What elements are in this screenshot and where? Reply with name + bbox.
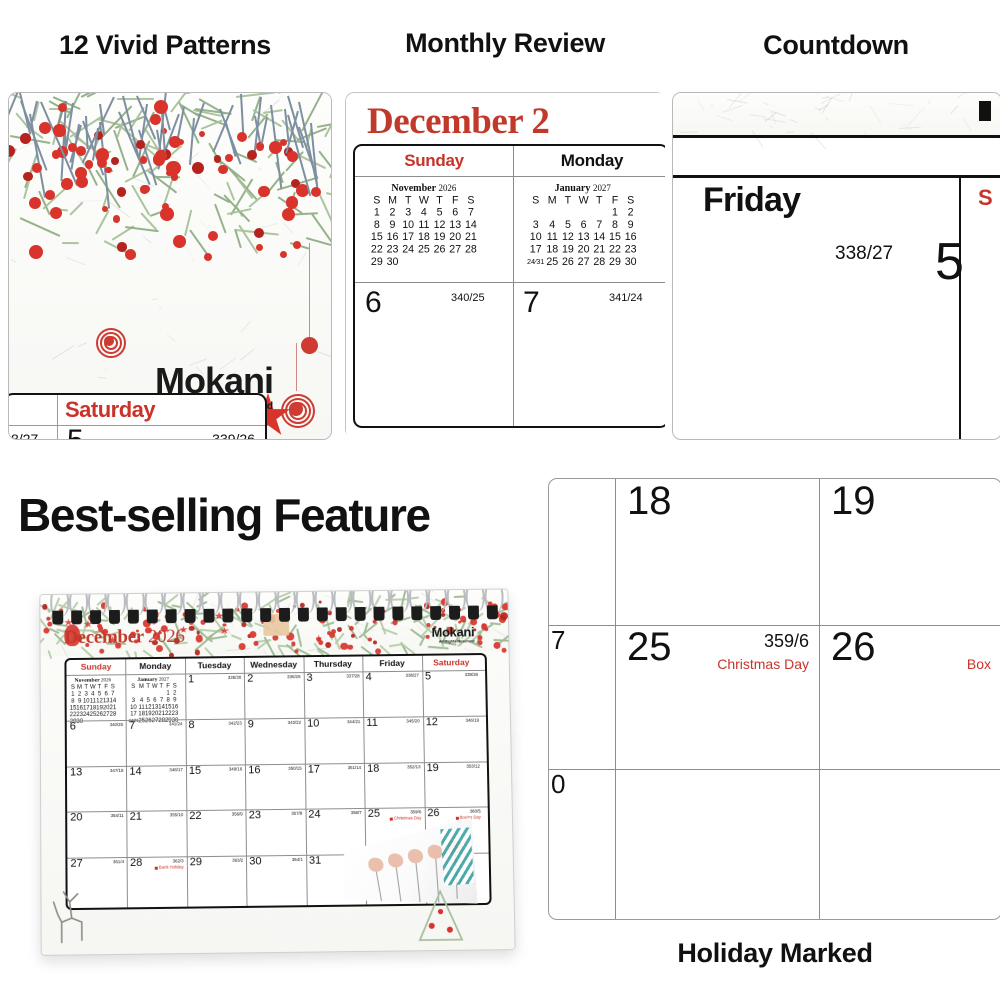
countdown-rule-top <box>673 135 1000 138</box>
mini-dow: M <box>76 684 83 691</box>
calendar-day-cell: 22356/9 <box>186 810 246 857</box>
mini-day: 9 <box>385 219 401 231</box>
paper-fiber <box>66 257 86 265</box>
mini-day: 25 <box>544 256 560 268</box>
mini-day: 20 <box>447 231 463 243</box>
calendar-day-code: 360/5 <box>470 809 481 814</box>
calendar-day-cell: 18352/13 <box>364 762 424 809</box>
calendar-day-cell: 21355/10 <box>127 811 187 858</box>
spiral-punch <box>147 609 158 623</box>
mini-dow: M <box>544 194 560 206</box>
calendar-day-code: 343/22 <box>288 720 301 725</box>
mini-day: 11 <box>416 219 432 231</box>
calendar-day-number: 30 <box>249 856 261 869</box>
tree-svg <box>409 885 472 942</box>
right-day-number: 26 <box>831 627 876 667</box>
mini-day: 24⁄31 <box>527 256 544 268</box>
calendar-day-code: 337/28 <box>346 673 359 678</box>
panel-monthly-review: December 2 Sunday Monday November 2026SM… <box>345 92 665 438</box>
mini-day: 24⁄31 <box>129 717 139 724</box>
berry <box>58 103 67 112</box>
mini-day: 8 <box>607 219 623 231</box>
calendar-day-number: 16 <box>248 764 260 777</box>
spiral-punch <box>279 608 290 622</box>
mini-month-january: January 2027SMTWTFS123456789101112131415… <box>527 182 638 268</box>
calendar-day-code: 352/13 <box>407 764 421 769</box>
right-day-cell: 7 <box>549 625 615 769</box>
mini-day <box>591 207 607 219</box>
calendar-month-name: December <box>64 626 143 648</box>
paper-fiber <box>908 107 926 126</box>
right-day-cell: 26Box <box>819 625 1000 769</box>
berry <box>269 141 282 154</box>
calendar-brand-name: Mokani <box>431 625 474 638</box>
paper-fiber <box>186 248 194 261</box>
paper-fiber <box>722 104 743 112</box>
mini-day: 28 <box>591 256 607 268</box>
calendar-day-number: 4 <box>366 671 372 684</box>
monthly-row-divider-1 <box>355 176 665 177</box>
paper-fiber <box>786 131 794 133</box>
mini-month-year: 2027 <box>159 676 169 682</box>
mini-day: 16 <box>623 231 639 243</box>
mini-day: 20 <box>576 244 592 256</box>
calendar-day-code: 347/18 <box>110 767 123 772</box>
mini-day <box>447 256 463 268</box>
calendar-day-cell: 4338/27 <box>363 671 423 717</box>
mini-day: 12 <box>432 219 448 231</box>
spiral-punch <box>468 606 479 620</box>
peel-pattern-dot <box>368 857 384 872</box>
berry <box>160 207 174 221</box>
calendar-day-number: 23 <box>249 810 261 823</box>
mini-day: 19 <box>432 231 448 243</box>
calendar-day-number: 27 <box>70 858 82 871</box>
calendar-day-number: 3 <box>306 672 312 685</box>
mini-day <box>560 207 576 219</box>
monthly-row-divider-2 <box>355 282 665 283</box>
paper-fiber <box>110 202 131 218</box>
mini-dow: T <box>400 194 416 206</box>
mini-day: 4 <box>416 207 432 219</box>
spiral-punch <box>128 610 139 624</box>
right-day-code: 359/6 <box>764 631 809 652</box>
calendar-day-cell: 7341/24 <box>126 719 186 765</box>
mini-month-wrap: November 2026SMTWTFS12345678910111213141… <box>70 676 124 677</box>
berry <box>68 143 77 152</box>
right-day-number: 7 <box>551 627 565 653</box>
mini-day: 13 <box>447 219 463 231</box>
mini-day: 5 <box>432 207 448 219</box>
mini-day: 8 <box>369 219 385 231</box>
calendar-day-number: 11 <box>366 717 378 730</box>
bauble-core <box>289 402 303 416</box>
berry <box>218 165 228 175</box>
calendar-day-number: 24 <box>308 809 320 822</box>
mini-day: 26 <box>560 256 576 268</box>
mini-month-table: SMTWTFS123456789101112131415161718192021… <box>369 194 479 268</box>
countdown-day-code: 338/27 <box>835 243 893 265</box>
spiral-punch <box>449 606 460 620</box>
spiral-punch <box>90 610 101 624</box>
mini-day: 29 <box>70 718 77 725</box>
calendar-day-code: 342/23 <box>228 720 241 725</box>
calendar-brand-rights: All Rights Reserved <box>432 638 475 643</box>
spiral-punch <box>430 606 441 620</box>
mini-day: 15 <box>607 231 623 243</box>
mini-month-header: January 2027 <box>129 676 179 683</box>
paper-fiber <box>817 92 825 96</box>
mini-day: 30 <box>76 718 83 725</box>
mini-month-table: SMTWTFS123456789101112131415161718192021… <box>129 682 179 724</box>
berry <box>239 643 246 650</box>
calendar-day-code: 356/9 <box>232 812 243 817</box>
monthly-col-header-sunday: Sunday <box>355 146 513 177</box>
calendar-day-cell: 30364/1 <box>246 855 306 902</box>
mini-dow: W <box>416 194 432 206</box>
calendar-weekday-saturday: Saturday <box>422 655 481 671</box>
calendar-day-code: 339/26 <box>465 672 478 677</box>
berry <box>237 132 247 142</box>
mini-month-header: January 2027 <box>527 182 638 193</box>
calendar-day-code: 338/27 <box>405 673 418 678</box>
calendar-day-code: 359/6 <box>410 810 421 815</box>
strip-day-number: 5 <box>67 426 84 440</box>
mini-day: 30 <box>172 717 179 724</box>
right-day-number: 18 <box>627 481 672 521</box>
mini-day: 3 <box>527 219 544 231</box>
right-holiday-label: Box <box>967 656 991 672</box>
mini-month-wrap: January 2027SMTWTFS123456789101112131415… <box>129 676 183 677</box>
berry <box>375 648 381 654</box>
berry <box>250 631 257 638</box>
heading-vivid-patterns: 12 Vivid Patterns <box>0 30 330 61</box>
berry <box>29 197 41 209</box>
countdown-day-number: 5 <box>935 236 964 288</box>
countdown-weekday-saturday: S <box>978 185 993 211</box>
spiral-punch <box>241 608 252 622</box>
ornament-thread <box>296 343 297 391</box>
panel-holiday-marked: 1819725359/6Christmas Day26Box0 <box>548 478 1000 920</box>
paper-fiber <box>329 433 332 440</box>
mini-day: 6 <box>576 219 592 231</box>
calendar-weekday-wednesday: Wednesday <box>244 657 303 673</box>
berry <box>208 231 218 241</box>
calendar-day-code: 335/30 <box>228 675 241 680</box>
pine-needle <box>62 242 79 244</box>
spiral-punch <box>392 606 403 620</box>
heading-countdown: Countdown <box>672 30 1000 61</box>
strip-divider <box>57 395 58 440</box>
calendar-day-cell: 6340/25 <box>67 720 127 766</box>
mini-day: 7 <box>591 219 607 231</box>
heading-holiday-marked: Holiday Marked <box>560 938 990 969</box>
mini-day: 24 <box>400 244 416 256</box>
mini-day: 5 <box>560 219 576 231</box>
calendar-day-code: 354/11 <box>111 813 124 818</box>
berry <box>478 635 483 640</box>
berry <box>351 633 355 637</box>
berry <box>280 251 287 258</box>
mini-month-year: 2026 <box>101 677 111 683</box>
mini-day: 10 <box>527 231 544 243</box>
right-day-number: 25 <box>627 627 672 667</box>
mini-day <box>416 256 432 268</box>
mini-month-header: November 2026 <box>70 676 117 683</box>
calendar-day-code: 364/1 <box>292 857 303 862</box>
berry <box>256 244 263 251</box>
calendar-day-code: 344/21 <box>347 719 360 724</box>
countdown-paper-band <box>673 93 1000 135</box>
mini-day <box>400 256 416 268</box>
monthly-grid: Sunday Monday November 2026SMTWTFS123456… <box>353 144 665 428</box>
mini-day: 3 <box>400 207 416 219</box>
paper-fiber <box>727 99 748 104</box>
calendar-cover: December 2026 Mokani All Rights Reserved… <box>39 588 515 955</box>
berry <box>155 150 167 162</box>
mini-day: 23 <box>623 244 639 256</box>
right-holiday-label: Christmas Day <box>717 656 809 672</box>
mini-day: 15 <box>369 231 385 243</box>
calendar-day-cell: 17351/14 <box>305 763 365 810</box>
calendar-day-code: 363/2 <box>232 858 243 863</box>
mini-day <box>576 207 592 219</box>
mini-day <box>527 207 544 219</box>
calendar-day-number: 5 <box>425 671 431 684</box>
paper-fiber <box>98 377 106 379</box>
calendar-date-strip: Saturday 8/27 5 339/26 <box>8 393 267 440</box>
paper-fiber <box>680 132 698 134</box>
berry <box>294 649 298 653</box>
monthly-day-number: 6 <box>365 288 382 318</box>
mini-day: 4 <box>544 219 560 231</box>
berry <box>254 641 259 646</box>
calendar-day-cell: 11345/20 <box>363 716 423 762</box>
berry <box>195 635 202 642</box>
mini-day: 1 <box>369 207 385 219</box>
right-day-number: 19 <box>831 481 876 521</box>
mini-day: 12 <box>560 231 576 243</box>
calendar-weekday-thursday: Thursday <box>303 656 362 672</box>
calendar-day-code: 345/20 <box>406 718 419 723</box>
mini-day: 11 <box>544 231 560 243</box>
mini-day <box>544 207 560 219</box>
calendar-brand: Mokani All Rights Reserved <box>431 625 474 643</box>
mini-day: 10 <box>400 219 416 231</box>
paper-fiber <box>194 172 209 188</box>
paper-fiber <box>239 348 254 360</box>
mini-month-year: 2026 <box>438 183 456 193</box>
berry <box>85 160 94 169</box>
right-day-cell: 25359/6Christmas Day <box>615 625 819 769</box>
mini-dow: F <box>607 194 623 206</box>
countdown-rule-bottom <box>673 175 1000 178</box>
paper-fiber <box>849 92 854 102</box>
calendar-day-cell: 10344/21 <box>304 717 364 763</box>
mini-dow: T <box>432 194 448 206</box>
calendar-day-number: 26 <box>427 807 439 820</box>
paper-fiber <box>790 119 798 123</box>
calendar-day-number: 28 <box>130 857 142 870</box>
berry <box>311 187 321 197</box>
berry <box>282 208 295 221</box>
mini-day: 22 <box>607 244 623 256</box>
paper-fiber <box>889 103 914 106</box>
desk-calendar-photo: December 2026 Mokani All Rights Reserved… <box>22 578 522 968</box>
mini-day: 30 <box>385 256 401 268</box>
mini-day: 27 <box>576 256 592 268</box>
calendar-weekday-tuesday: Tuesday <box>185 658 244 674</box>
calendar-day-number: 2 <box>247 673 253 686</box>
binding-mark-icon <box>979 101 991 121</box>
mini-day: 13 <box>576 231 592 243</box>
berry <box>287 151 298 162</box>
mini-month-year: 2027 <box>593 183 611 193</box>
tree-decoration-icon <box>409 885 472 942</box>
berry <box>173 235 186 248</box>
paper-fiber <box>963 119 972 132</box>
calendar-day-cell: 15349/16 <box>186 764 246 811</box>
spiral-punch <box>71 610 82 624</box>
spiral-punch <box>487 605 498 619</box>
berry <box>136 140 145 149</box>
calendar-weekday-monday: Monday <box>126 659 185 675</box>
calendar-day-number: 25 <box>368 808 380 821</box>
strip-right-code: 339/26 <box>212 431 255 440</box>
countdown-weekday-friday: Friday <box>703 181 800 220</box>
mini-month-january: January 2027SMTWTFS123456789101112131415… <box>129 676 179 725</box>
calendar-day-number: 8 <box>188 719 194 732</box>
berry <box>426 635 430 639</box>
paper-fiber <box>78 342 87 347</box>
paper-fiber <box>749 114 766 118</box>
mini-day: 19 <box>560 244 576 256</box>
reindeer-svg <box>47 882 98 945</box>
reindeer-decoration-icon <box>47 882 98 945</box>
calendar-day-code: 336/29 <box>287 674 300 679</box>
paper-fiber <box>762 102 768 105</box>
berry <box>50 207 62 219</box>
mini-day: 21 <box>591 244 607 256</box>
paper-fiber <box>951 105 959 114</box>
peel-pattern-dot <box>408 849 424 864</box>
calendar-day-cell: 5339/26 <box>422 670 482 716</box>
mini-day: 1 <box>607 207 623 219</box>
heading-best-selling-feature: Best-selling Feature <box>18 488 558 542</box>
calendar-day-code: 357/8 <box>291 811 302 816</box>
bauble-ornament-icon <box>301 337 318 354</box>
calendar-day-cell: 3337/28 <box>303 671 363 717</box>
mini-day: 7 <box>463 207 479 219</box>
mini-month-table: SMTWTFS123456789101112131415161718192021… <box>70 683 117 725</box>
mini-day: 16 <box>385 231 401 243</box>
paper-fiber <box>273 95 283 104</box>
paper-fiber <box>716 115 732 121</box>
paper-fiber <box>314 350 332 358</box>
paper-fiber <box>241 321 251 333</box>
berry <box>194 650 199 655</box>
paper-fiber <box>298 251 307 265</box>
monthly-day-code: 341/24 <box>609 292 643 304</box>
heading-monthly-review: Monthly Review <box>340 28 670 59</box>
calendar-holiday-label: Bank Holiday <box>155 865 184 870</box>
mini-dow: M <box>385 194 401 206</box>
berry <box>286 196 298 208</box>
spiral-punch <box>185 609 196 623</box>
mini-month-november: November 2026SMTWTFS12345678910111213141… <box>369 182 479 268</box>
mini-dow: S <box>527 194 544 206</box>
berry <box>117 187 126 196</box>
mini-month-header: November 2026 <box>369 182 479 193</box>
calendar-day-code: 348/17 <box>169 767 182 772</box>
paper-fiber <box>870 105 882 123</box>
mini-day: 2 <box>385 207 401 219</box>
strip-left-code: 8/27 <box>11 431 38 440</box>
mini-day: 22 <box>369 244 385 256</box>
calendar-day-number: 15 <box>189 765 201 778</box>
calendar-month-title: December 2026 <box>64 626 184 649</box>
calendar-day-number: 31 <box>309 855 321 868</box>
spiral-punch <box>222 609 233 623</box>
calendar-day-code: 362/3 <box>173 859 184 864</box>
berry <box>76 176 88 188</box>
mini-dow: F <box>447 194 463 206</box>
berry <box>256 142 265 151</box>
paper-fiber <box>752 130 764 147</box>
product-feature-collage: 12 Vivid Patterns Monthly Review Countdo… <box>0 0 1000 1000</box>
mini-dow: S <box>369 194 385 206</box>
calendar-day-code: 351/14 <box>348 765 362 770</box>
mini-day: 2 <box>623 207 639 219</box>
spiral-punch <box>298 608 309 622</box>
mini-day: 9 <box>623 219 639 231</box>
spiral-punch <box>336 607 347 621</box>
calendar-day-cell: 9343/22 <box>245 718 305 764</box>
mini-dow: S <box>463 194 479 206</box>
right-row-divider-2 <box>549 769 1000 770</box>
mini-dow: T <box>591 194 607 206</box>
calendar-day-number: 18 <box>367 762 379 775</box>
calendar-year: 2026 <box>148 626 185 647</box>
countdown-column-divider <box>959 175 961 439</box>
calendar-day-cell: 8342/23 <box>185 718 245 764</box>
monthly-col-header-monday: Monday <box>513 146 665 177</box>
calendar-day-number: 12 <box>426 716 438 729</box>
paper-fiber <box>166 335 175 343</box>
calendar-day-cell: 28362/3Bank Holiday <box>127 856 187 903</box>
calendar-day-number: 17 <box>308 763 320 776</box>
monthly-column-divider <box>513 146 514 426</box>
spiral-punch <box>260 608 271 622</box>
paper-fiber <box>11 259 17 263</box>
mini-day: 26 <box>432 244 448 256</box>
berry <box>192 162 204 174</box>
right-day-cell: 18 <box>615 479 819 625</box>
calendar-day-number: 10 <box>307 717 319 730</box>
calendar-day-cell: 19353/12 <box>423 761 483 808</box>
paper-fiber <box>152 298 158 300</box>
calendar-day-cell: 23357/8 <box>246 809 306 856</box>
mini-day: 14 <box>463 219 479 231</box>
calendar-day-number: 21 <box>130 811 142 824</box>
calendar-day-number: 20 <box>70 812 82 825</box>
bauble-core <box>104 336 114 346</box>
mini-month-november: November 2026SMTWTFS12345678910111213141… <box>70 676 117 725</box>
ornament-thread <box>309 243 310 339</box>
berry <box>501 648 506 653</box>
calendar-day-number: 9 <box>248 718 254 731</box>
mini-day: 25 <box>416 244 432 256</box>
